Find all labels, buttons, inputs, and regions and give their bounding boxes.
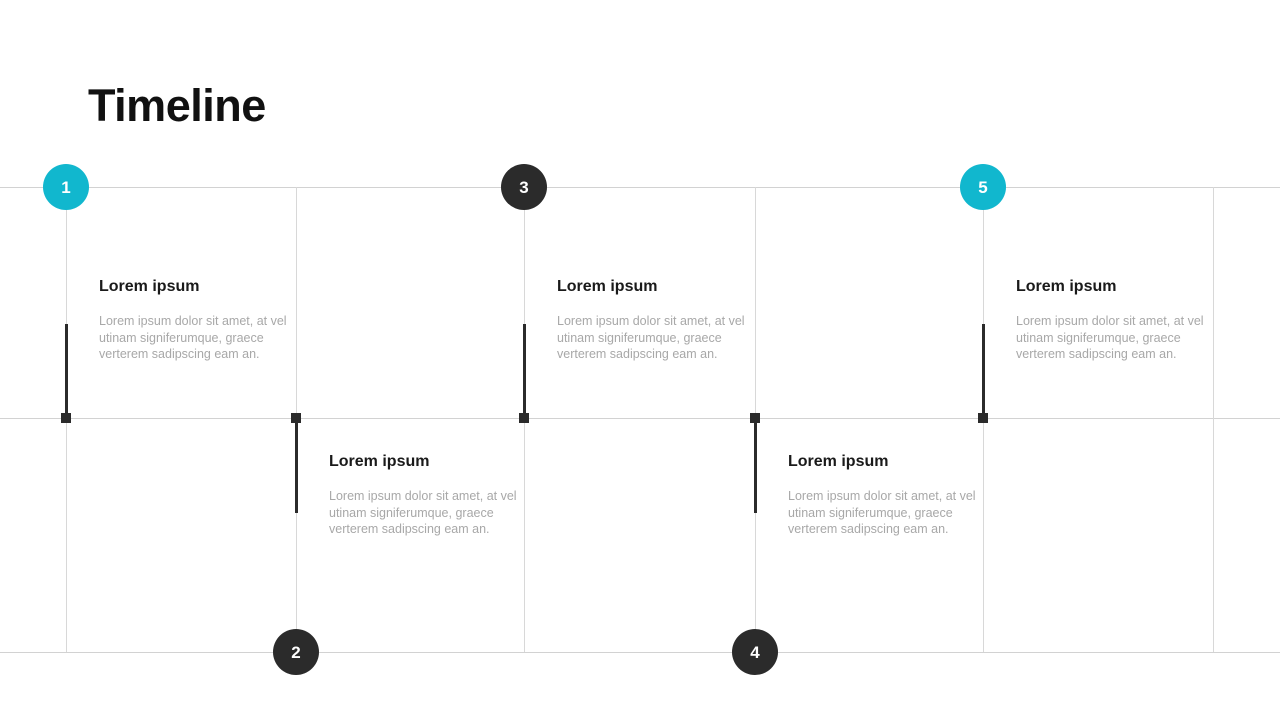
timeline-marker-number: 5	[978, 179, 987, 196]
horizontal-gridline-2	[0, 418, 1280, 419]
timeline-node-square-1	[61, 413, 71, 423]
timeline-text-block-2: Lorem ipsumLorem ipsum dolor sit amet, a…	[329, 452, 529, 538]
vertical-gridline-6	[1213, 187, 1214, 652]
timeline-node-square-5	[978, 413, 988, 423]
timeline-item-body: Lorem ipsum dolor sit amet, at vel utina…	[1016, 313, 1216, 363]
timeline-marker-number: 3	[519, 179, 528, 196]
timeline-item-heading: Lorem ipsum	[557, 277, 757, 296]
timeline-item-body: Lorem ipsum dolor sit amet, at vel utina…	[557, 313, 757, 363]
timeline-text-block-4: Lorem ipsumLorem ipsum dolor sit amet, a…	[788, 452, 988, 538]
timeline-item-body: Lorem ipsum dolor sit amet, at vel utina…	[99, 313, 299, 363]
timeline-marker-number: 2	[291, 644, 300, 661]
timeline-item-heading: Lorem ipsum	[1016, 277, 1216, 296]
timeline-marker-number: 1	[61, 179, 70, 196]
timeline-item-body: Lorem ipsum dolor sit amet, at vel utina…	[329, 488, 529, 538]
timeline-item-heading: Lorem ipsum	[329, 452, 529, 471]
timeline-marker-number: 4	[750, 644, 759, 661]
timeline-text-block-3: Lorem ipsumLorem ipsum dolor sit amet, a…	[557, 277, 757, 363]
timeline-item-body: Lorem ipsum dolor sit amet, at vel utina…	[788, 488, 988, 538]
timeline-stem-2	[295, 418, 298, 513]
timeline-stem-3	[523, 324, 526, 418]
timeline-node-square-4	[750, 413, 760, 423]
timeline-marker-circle-1[interactable]: 1	[43, 164, 89, 210]
timeline-item-heading: Lorem ipsum	[99, 277, 299, 296]
timeline-item-heading: Lorem ipsum	[788, 452, 988, 471]
timeline-stem-5	[982, 324, 985, 418]
timeline-text-block-1: Lorem ipsumLorem ipsum dolor sit amet, a…	[99, 277, 299, 363]
timeline-marker-circle-2[interactable]: 2	[273, 629, 319, 675]
timeline-node-square-2	[291, 413, 301, 423]
timeline-marker-circle-5[interactable]: 5	[960, 164, 1006, 210]
page-title: Timeline	[88, 82, 266, 129]
timeline-stem-1	[65, 324, 68, 418]
timeline-marker-circle-4[interactable]: 4	[732, 629, 778, 675]
timeline-stem-4	[754, 418, 757, 513]
timeline-node-square-3	[519, 413, 529, 423]
timeline-slide: Timeline 1Lorem ipsumLorem ipsum dolor s…	[0, 0, 1280, 720]
timeline-text-block-5: Lorem ipsumLorem ipsum dolor sit amet, a…	[1016, 277, 1216, 363]
horizontal-gridline-3	[0, 652, 1280, 653]
horizontal-gridline-1	[0, 187, 1280, 188]
timeline-marker-circle-3[interactable]: 3	[501, 164, 547, 210]
